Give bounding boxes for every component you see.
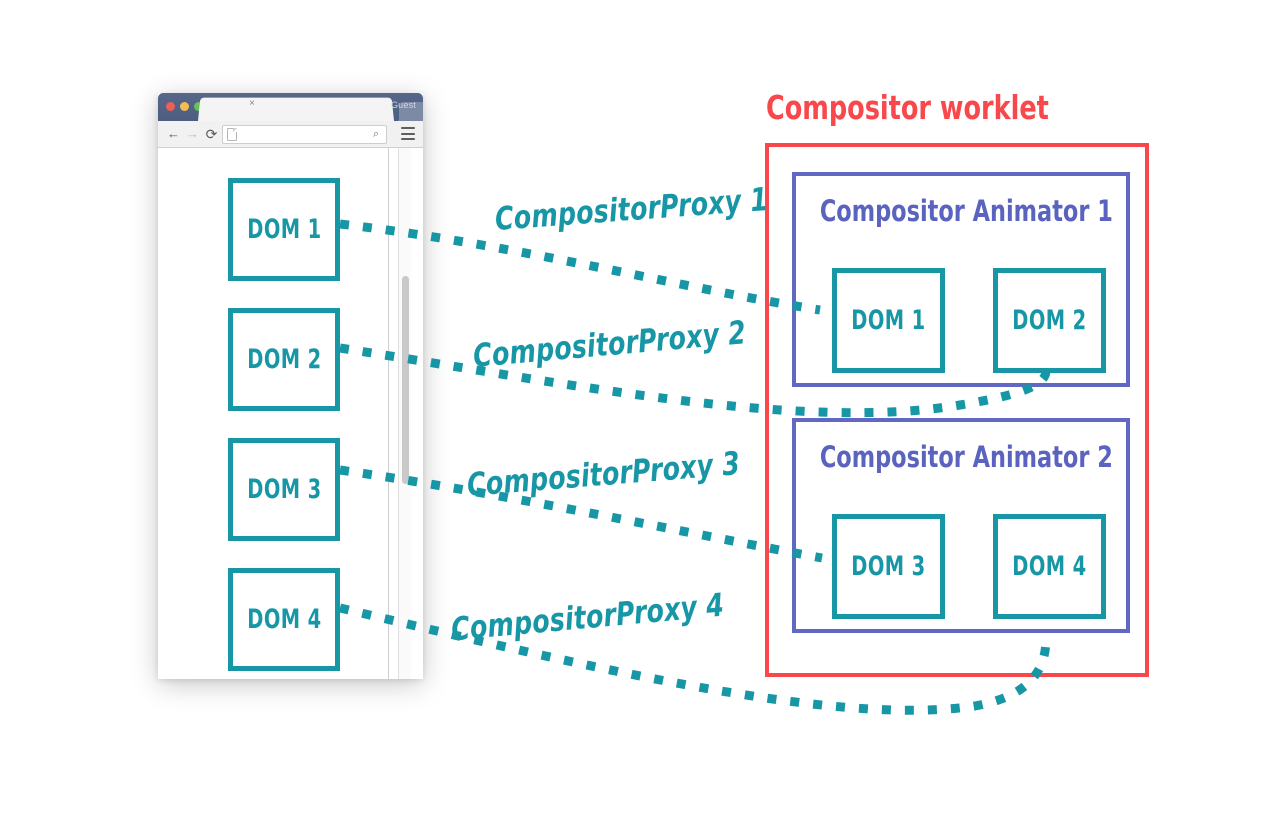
address-bar[interactable]: ⌕: [222, 125, 387, 144]
animator-1-dom-box-1: DOM 1: [832, 268, 945, 373]
page-dom-box-3-label: DOM 3: [247, 474, 321, 505]
animator-2-dom-box-4: DOM 4: [993, 514, 1106, 619]
forward-icon[interactable]: →: [184, 125, 201, 142]
proxy-label-4: CompositorProxy 4: [431, 584, 744, 650]
animator-1-dom-box-2: DOM 2: [993, 268, 1106, 373]
proxy-label-4-text: CompositorProxy 4: [449, 586, 725, 649]
page-dom-box-1-label: DOM 1: [247, 214, 321, 245]
compositor-animator-1-title: Compositor Animator 1: [796, 194, 1126, 228]
animator-2-dom-box-4-label: DOM 4: [1012, 551, 1086, 582]
guest-profile-label[interactable]: Guest: [391, 100, 416, 110]
page-dom-box-1: DOM 1: [228, 178, 340, 281]
browser-toolbar: ← → ⟳ ⌕: [158, 121, 423, 148]
scrollbar-thumb[interactable]: [402, 276, 409, 484]
search-icon[interactable]: ⌕: [370, 128, 382, 140]
browser-viewport: DOM 1 DOM 2 DOM 3 DOM 4: [158, 148, 423, 679]
browser-titlebar: × Guest: [158, 93, 423, 121]
proxy-label-3: CompositorProxy 3: [447, 443, 760, 506]
animator-1-dom-box-2-label: DOM 2: [1012, 305, 1086, 336]
animator-2-dom-box-3-label: DOM 3: [851, 551, 925, 582]
back-icon[interactable]: ←: [165, 125, 182, 142]
diagram-canvas: × Guest ← → ⟳ ⌕ DOM 1 DOM 2: [0, 0, 1280, 815]
compositor-animator-2-title: Compositor Animator 2: [796, 440, 1126, 474]
proxy-label-3-text: CompositorProxy 3: [466, 444, 742, 504]
browser-window: × Guest ← → ⟳ ⌕ DOM 1 DOM 2: [158, 93, 423, 678]
proxy-label-2-text: CompositorProxy 2: [472, 313, 748, 375]
animator-1-dom-box-1-label: DOM 1: [851, 305, 925, 336]
compositor-animator-2: Compositor Animator 2 DOM 3 DOM 4: [792, 418, 1130, 633]
close-window-icon[interactable]: [166, 102, 175, 111]
compositor-worklet-title: Compositor worklet: [766, 88, 1049, 127]
proxy-label-1-text: CompositorProxy 1: [494, 180, 770, 238]
compositor-worklet-panel: Compositor Animator 1 DOM 1 DOM 2 Compos…: [765, 143, 1149, 677]
page-divider: [388, 148, 389, 679]
tab-close-icon[interactable]: ×: [247, 99, 257, 109]
compositor-worklet-title-text: Compositor worklet: [766, 88, 1049, 127]
minimize-window-icon[interactable]: [180, 102, 189, 111]
compositor-animator-2-title-text: Compositor Animator 2: [820, 440, 1113, 474]
compositor-animator-1-title-text: Compositor Animator 1: [820, 194, 1113, 228]
page-dom-box-2-label: DOM 2: [247, 344, 321, 375]
page-dom-box-4: DOM 4: [228, 568, 340, 671]
reload-icon[interactable]: ⟳: [203, 125, 220, 142]
hamburger-menu-icon[interactable]: [401, 127, 415, 140]
page-dom-box-3: DOM 3: [228, 438, 340, 541]
page-dom-box-2: DOM 2: [228, 308, 340, 411]
proxy-label-2: CompositorProxy 2: [453, 312, 766, 377]
page-icon: [227, 128, 237, 141]
window-controls[interactable]: [166, 102, 203, 111]
page-dom-box-4-label: DOM 4: [247, 604, 321, 635]
proxy-label-1: CompositorProxy 1: [475, 179, 788, 240]
animator-2-dom-box-3: DOM 3: [832, 514, 945, 619]
browser-tab[interactable]: [198, 98, 394, 121]
compositor-animator-1: Compositor Animator 1 DOM 1 DOM 2: [792, 172, 1130, 387]
